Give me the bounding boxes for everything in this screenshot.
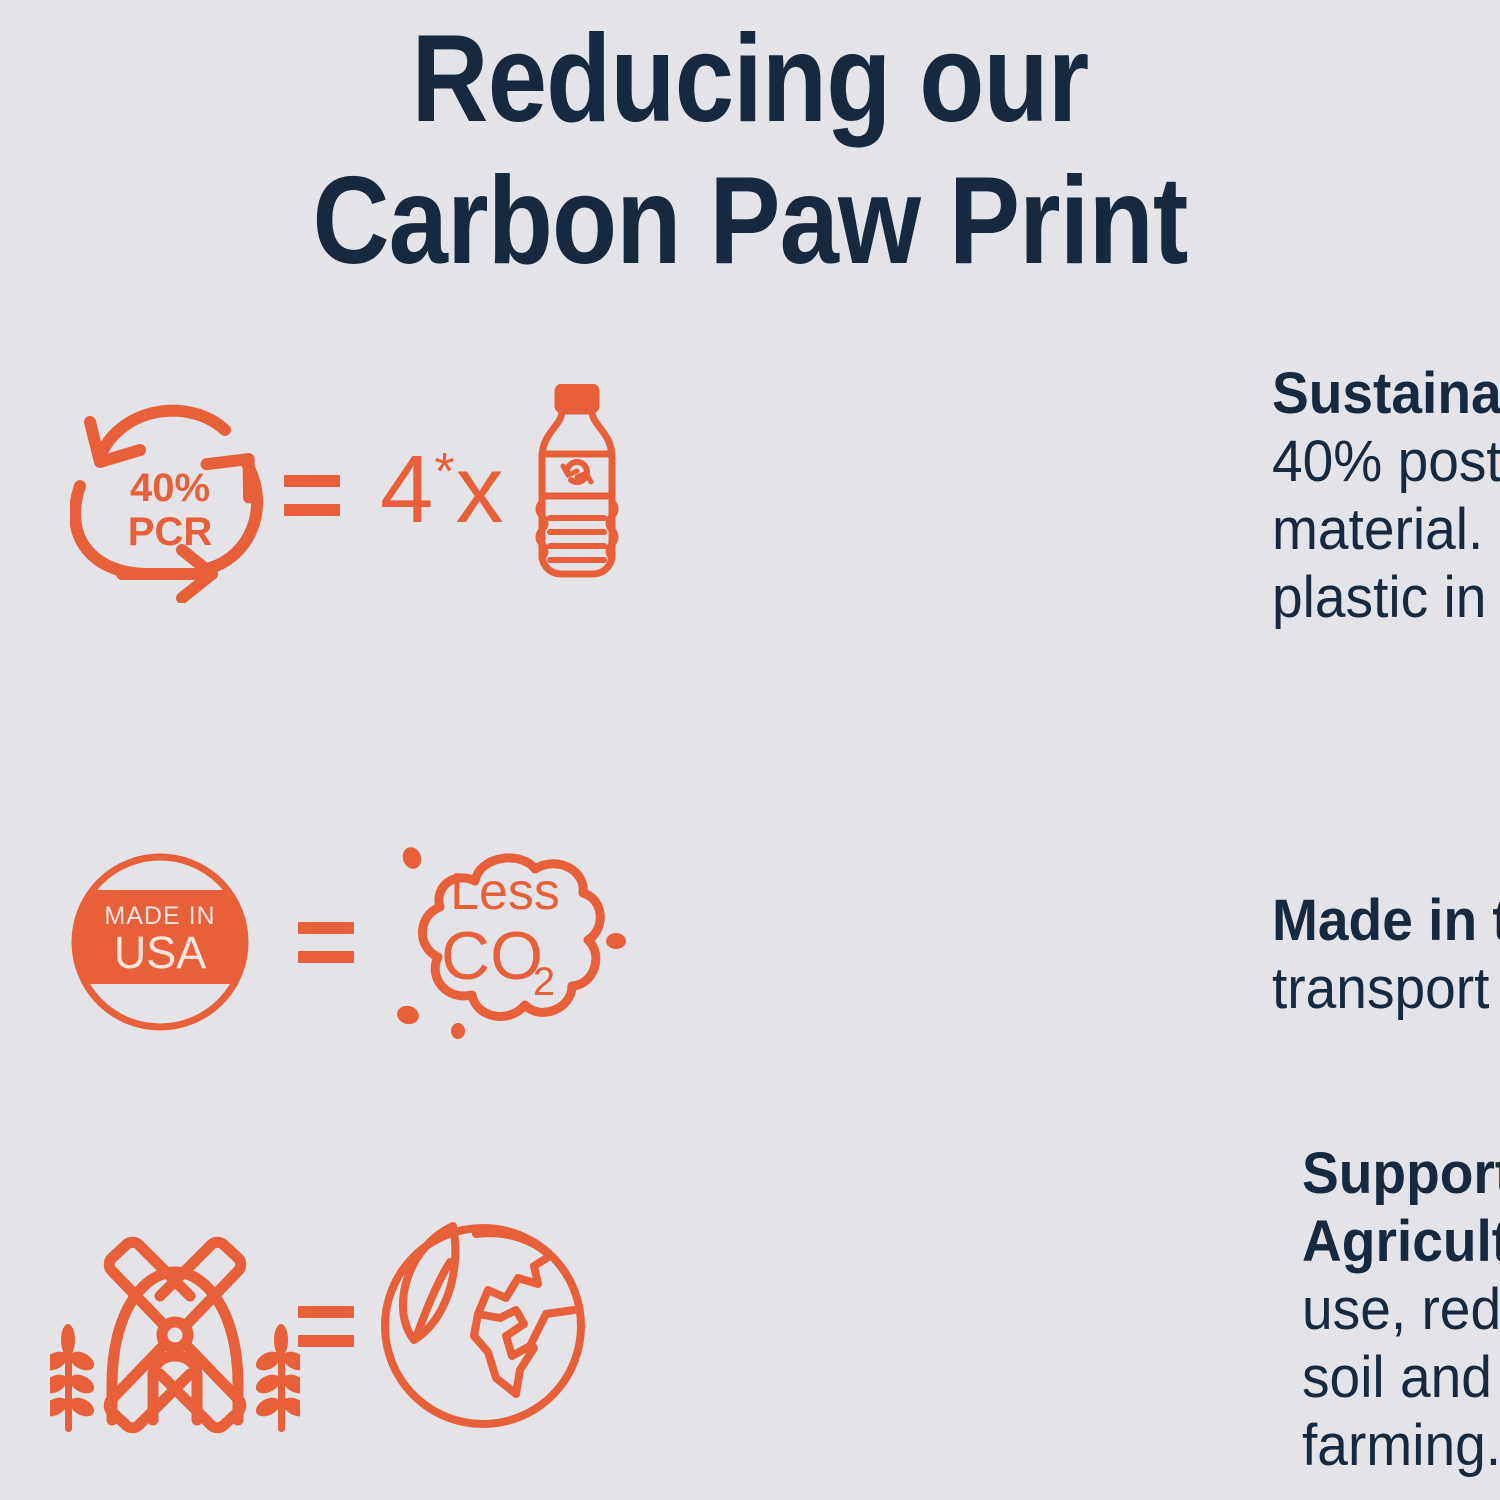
sustainable-packaging-text: Sustainable Packaging with 40% post-cons… [636,360,1460,700]
windmill-wheat-icon [50,1224,300,1454]
made-in-usa-text: Made in the USA reducing transport dista… [636,865,1460,1015]
wheat-stalk-left [50,1324,97,1432]
row-2-heading: Made in the USA [1272,888,1500,953]
cloud-co2-subscript: 2 [533,960,555,1004]
row-1-heading: Sustainable Packaging [1272,361,1500,426]
made-in-usa-badge-icon: MADE IN USA [70,852,250,1032]
cloud-co2-label: CO [441,918,543,994]
regenerative-agriculture-icon-group [30,1140,636,1480]
multiplier-x: x [456,436,505,543]
badge-made-in-label: MADE IN [104,902,215,930]
multiplier-label: 4*x [380,442,505,538]
multiplier-asterisk: * [434,443,455,501]
feature-row-made-in-usa: MADE IN USA Less CO 2 Made in the USA re… [60,840,1460,1040]
page-title-line-1: Reducing our [105,8,1395,150]
wheat-stalk-right [253,1324,300,1432]
equals-sign-row-1 [284,475,340,516]
sustainable-packaging-icon-group: 40% PCR 4*x [60,360,636,620]
badge-usa-label: USA [114,927,207,978]
plastic-bottle-icon [522,384,632,584]
equals-sign-row-3 [298,1306,354,1347]
feature-row-sustainable-packaging: 40% PCR 4*x [60,360,1460,700]
page-title: Reducing our Carbon Paw Print [105,8,1395,292]
row-3-heading: Support Regenerative Agriculture. [1302,1141,1500,1274]
recycle-arrows-icon: 40% PCR [70,388,270,603]
equals-sign-row-2 [298,922,354,963]
feature-row-regenerative-agriculture: Support Regenerative Agriculture. Loweri… [30,1140,1470,1490]
multiplier-number: 4 [380,436,434,543]
recycle-percent-label: 40% [130,466,210,510]
recycle-pcr-label: PCR [128,510,213,554]
cloud-less-label: Less [450,863,560,921]
page-title-line-2: Carbon Paw Print [105,150,1395,292]
made-in-usa-icon-group: MADE IN USA Less CO 2 [60,840,636,1040]
regenerative-agriculture-text: Support Regenerative Agriculture. Loweri… [636,1140,1470,1490]
globe-leaf-icon [378,1218,588,1433]
less-co2-cloud-icon: Less CO 2 [380,843,630,1043]
